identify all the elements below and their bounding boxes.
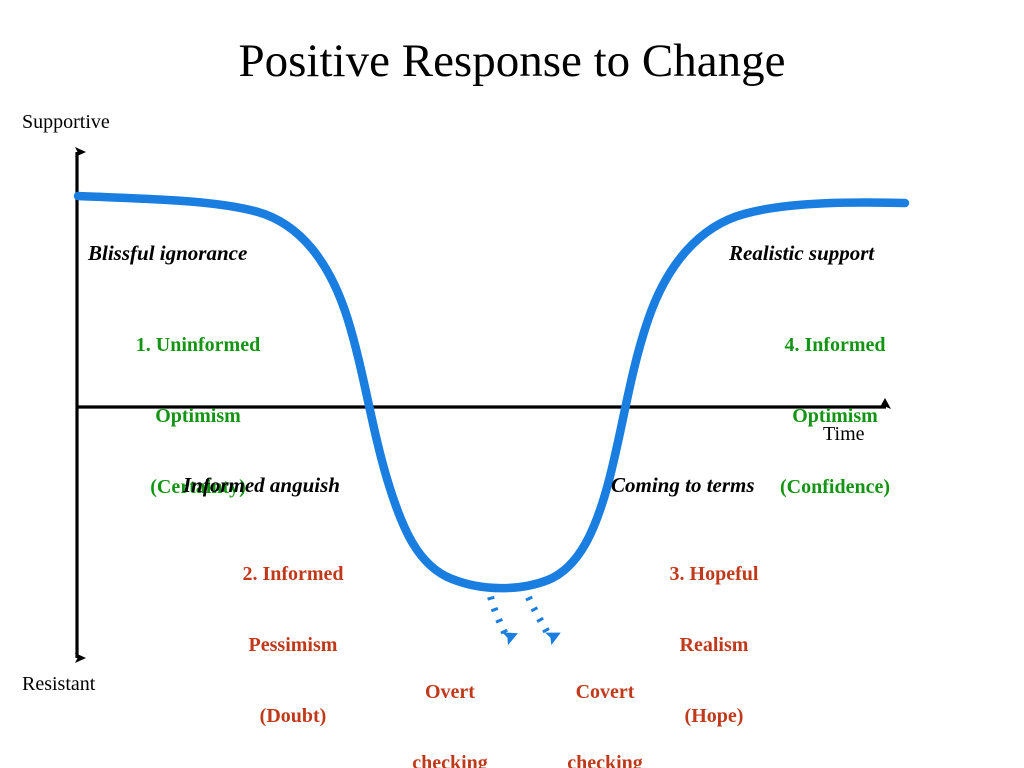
phase-body-informed-optimism: 4. Informed Optimism (Confidence) [735,287,935,547]
annotation-overt-checking-out: Overt checking out [385,634,515,768]
phase-caption-informed-anguish: Informed anguish [183,473,340,498]
phase-caption-blissful-ignorance: Blissful ignorance [88,241,247,266]
phase-2-line-1: 2. Informed [193,563,393,587]
phase-2-line-2: Pessimism [193,634,393,658]
annotation-covert-checking-out: Covert checking out [540,634,670,768]
overt-line-1: Overt [385,681,515,705]
y-axis-bottom-label: Resistant [22,673,95,697]
phase-1-line-2: Optimism [98,405,298,429]
phase-4-line-1: 4. Informed [735,334,935,358]
phase-2-line-3: (Doubt) [193,705,393,729]
phase-3-line-1: 3. Hopeful [614,563,814,587]
covert-line-1: Covert [540,681,670,705]
phase-4-line-2: Optimism [735,405,935,429]
phase-4-line-3: (Confidence) [735,476,935,500]
y-axis-top-label: Supportive [22,111,110,135]
covert-checking-out-arrow [524,586,550,638]
slide-canvas: Positive Response to Change Su [0,0,1024,768]
phase-caption-realistic-support: Realistic support [729,241,874,266]
phase-1-line-1: 1. Uninformed [98,334,298,358]
phase-body-informed-pessimism: 2. Informed Pessimism (Doubt) [193,516,393,768]
covert-line-2: checking [540,752,670,768]
overt-checking-out-arrow [488,585,507,638]
overt-line-2: checking [385,752,515,768]
phase-body-uninformed-optimism: 1. Uninformed Optimism (Certainty) [98,287,298,547]
phase-caption-coming-to-terms: Coming to terms [611,473,755,498]
